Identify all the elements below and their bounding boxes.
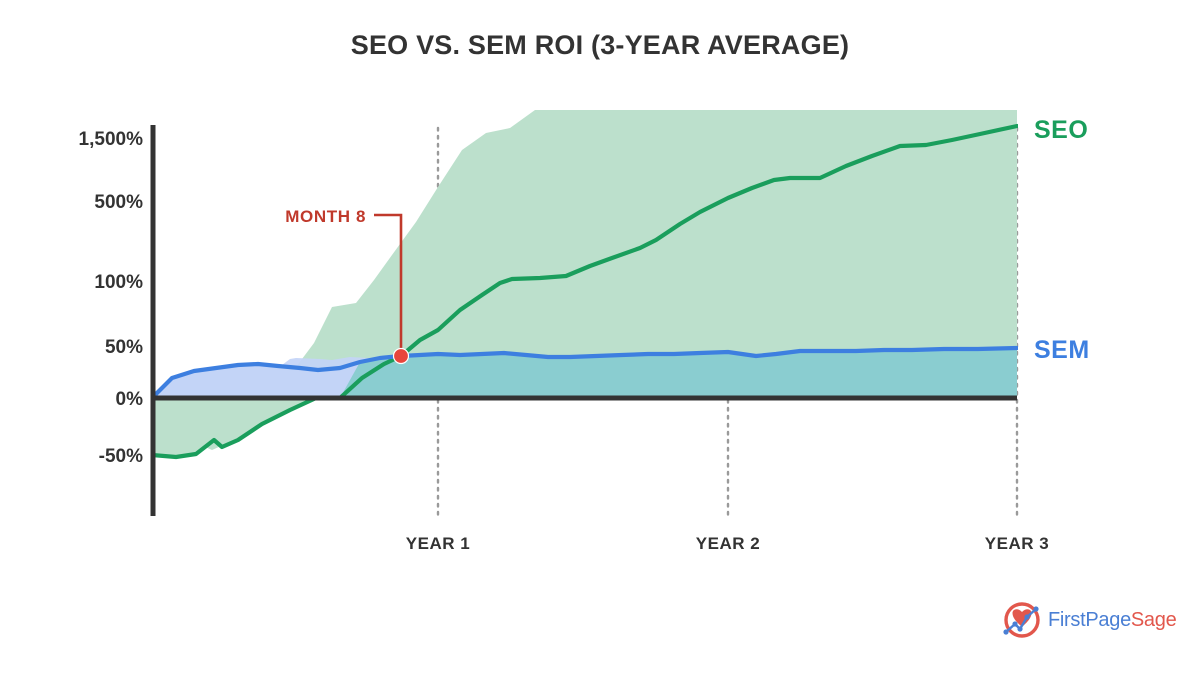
- x-tick-year-1: YEAR 1: [406, 534, 470, 553]
- firstpagesage-logo[interactable]: FirstPageSage: [1002, 600, 1176, 640]
- y-tick-100: 100%: [94, 272, 143, 293]
- y-axis-tick-labels: 1,500% 500% 100% 50% 0% -50%: [79, 129, 144, 467]
- x-tick-year-3: YEAR 3: [985, 534, 1049, 553]
- firstpagesage-logo-mark: [1002, 600, 1042, 640]
- chart-plot-area: 1,500% 500% 100% 50% 0% -50% YEAR 1 YEAR…: [0, 0, 1200, 680]
- y-tick-0: 0%: [116, 389, 144, 410]
- y-tick-1500: 1,500%: [79, 129, 144, 150]
- x-axis-tick-labels: YEAR 1 YEAR 2 YEAR 3: [406, 534, 1049, 553]
- legend-label-sem: SEM: [1034, 336, 1090, 364]
- logo-text-firstpage: FirstPage: [1048, 609, 1131, 631]
- chart-container: SEO VS. SEM ROI (3-YEAR AVERAGE): [0, 0, 1200, 680]
- logo-text-sage: Sage: [1131, 609, 1177, 631]
- seo-negative-fill: [152, 398, 340, 457]
- y-tick-500: 500%: [94, 192, 143, 213]
- legend-label-seo: SEO: [1034, 116, 1088, 144]
- x-tick-year-2: YEAR 2: [696, 534, 760, 553]
- y-tick-50: 50%: [105, 337, 143, 358]
- annotation-marker-dot: [394, 349, 409, 364]
- y-tick-neg50: -50%: [99, 446, 143, 467]
- annotation-label-month-8: MONTH 8: [285, 207, 366, 226]
